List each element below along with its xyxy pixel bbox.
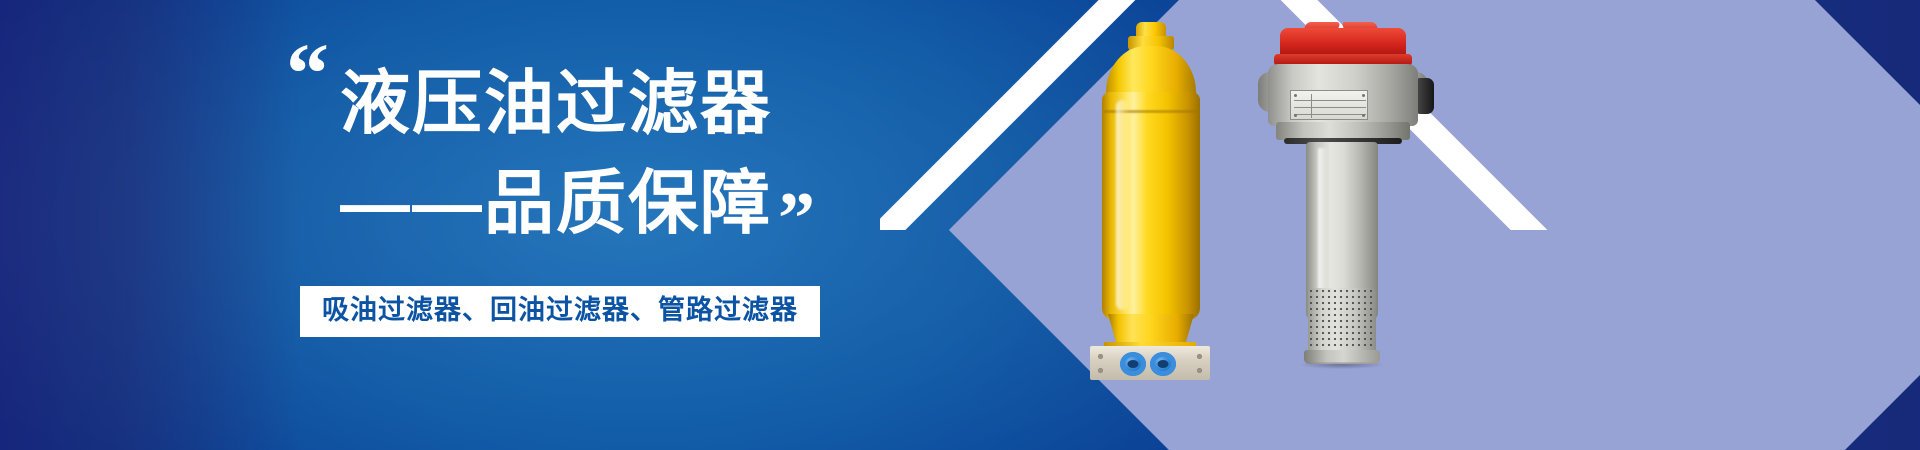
gray-return-filter	[1256, 28, 1431, 378]
subtitle-box: 吸油过滤器、回油过滤器、管路过滤器	[300, 286, 820, 337]
nameplate-rule	[1294, 100, 1366, 101]
nameplate-rule	[1294, 107, 1366, 108]
nameplate-screw	[1294, 114, 1297, 117]
hydraulic-filter-banner: “ 液压油过滤器 ——品质保障 ” 吸油过滤器、回油过滤器、管路过滤器	[0, 0, 1920, 450]
blue-port-right	[1150, 352, 1176, 376]
plate-bolt	[1098, 368, 1103, 373]
nameplate-screw	[1362, 94, 1365, 97]
port-hole	[1128, 360, 1139, 368]
subtitle-text: 吸油过滤器、回油过滤器、管路过滤器	[322, 295, 798, 325]
plate-bolt	[1197, 368, 1202, 373]
blue-port-left	[1120, 352, 1146, 376]
filter-shadow	[1300, 362, 1384, 369]
nameplate-rule	[1311, 94, 1312, 118]
nameplate-rule	[1294, 114, 1366, 115]
plate-bolt	[1098, 354, 1103, 359]
headline-line-2: ——品质保障	[340, 168, 772, 238]
headline-line-1: 液压油过滤器	[340, 68, 772, 138]
specification-nameplate	[1290, 90, 1368, 120]
plate-bolt	[1197, 354, 1202, 359]
quote-open-icon: “	[286, 30, 325, 116]
headline-line-2-wrap: ——品质保障 ”	[340, 164, 812, 238]
yellow-suction-filter	[1090, 22, 1210, 382]
nameplate-screw	[1362, 114, 1365, 117]
product-images	[1060, 0, 1760, 450]
port-hole	[1158, 360, 1169, 368]
yellow-shoulder	[1106, 46, 1196, 98]
quote-close-icon: ”	[778, 182, 812, 256]
perforated-mesh-screen	[1308, 288, 1376, 352]
black-side-port	[1416, 78, 1434, 114]
barrel-highlight	[1318, 148, 1327, 308]
nameplate-screw	[1294, 94, 1297, 97]
yellow-body-highlight	[1116, 100, 1129, 310]
